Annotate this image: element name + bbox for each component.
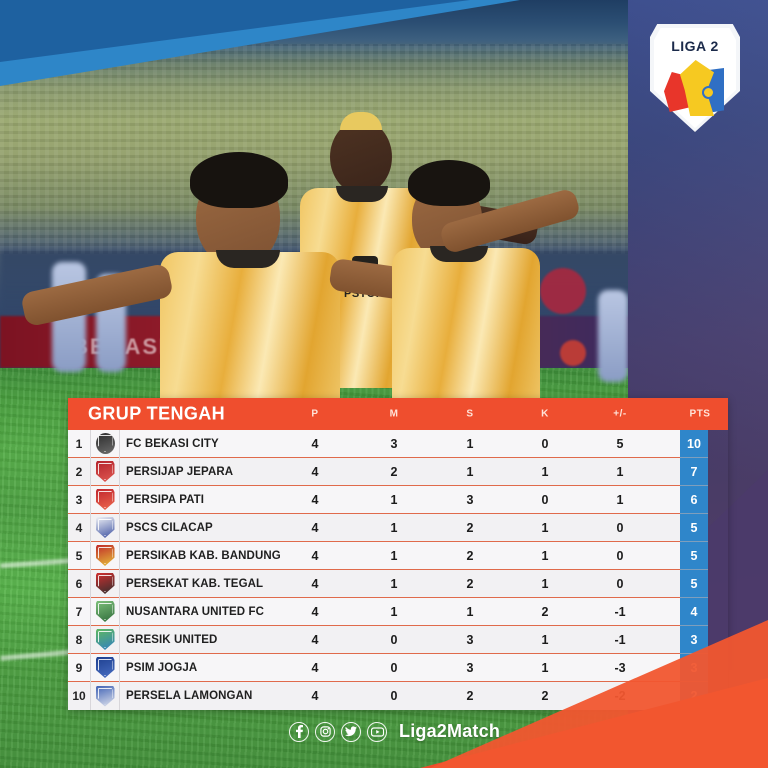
stat-drawn: 1 xyxy=(467,437,474,451)
table-body: 1FC BEKASI CITY431052PERSIJAP JEPARA4211… xyxy=(68,430,708,710)
club-crest-ring xyxy=(98,603,113,620)
jersey-collar xyxy=(336,186,388,202)
row-rank: 6 xyxy=(68,577,90,591)
row-rank: 7 xyxy=(68,605,90,619)
stat-lost: 2 xyxy=(542,689,549,703)
club-crest-shape xyxy=(96,601,115,622)
logo-football-icon xyxy=(702,86,715,99)
row-rank: 2 xyxy=(68,465,90,479)
club-crest-icon xyxy=(91,654,119,682)
row-rank: 5 xyxy=(68,549,90,563)
stat-won: 0 xyxy=(391,633,398,647)
club-crest-shape xyxy=(96,573,115,594)
team-name: PSIM JOGJA xyxy=(120,662,197,674)
player-head xyxy=(330,120,392,194)
stat-goal-difference: 5 xyxy=(617,437,624,451)
stat-played: 4 xyxy=(312,633,319,647)
stat-won: 1 xyxy=(391,493,398,507)
stat-played: 4 xyxy=(312,437,319,451)
liga-2-logo: LIGA 2 xyxy=(650,24,740,132)
stat-lost: 2 xyxy=(542,605,549,619)
club-crest-icon xyxy=(91,626,119,654)
standings-table: GRUP TENGAH P M S K +/- PTS 1FC BEKASI C… xyxy=(68,398,728,710)
stat-played: 4 xyxy=(312,689,319,703)
stat-won: 2 xyxy=(391,465,398,479)
club-crest-ring xyxy=(98,519,113,536)
club-crest-ring xyxy=(98,631,113,648)
stat-drawn: 2 xyxy=(467,549,474,563)
stat-drawn: 1 xyxy=(467,605,474,619)
stat-played: 4 xyxy=(312,465,319,479)
stat-points: 5 xyxy=(680,514,708,542)
table-row[interactable]: 9PSIM JOGJA4031-3 xyxy=(68,654,708,682)
background-player xyxy=(598,290,628,382)
club-crest-shape xyxy=(96,686,115,707)
stat-drawn: 2 xyxy=(467,577,474,591)
club-crest-icon xyxy=(91,682,119,710)
club-crest-icon xyxy=(91,430,119,458)
club-crest-ring xyxy=(98,547,113,564)
stat-won: 0 xyxy=(391,689,398,703)
row-rank: 10 xyxy=(68,689,90,703)
table-row[interactable]: 3PERSIPA PATI41301 xyxy=(68,486,708,514)
row-rank: 9 xyxy=(68,661,90,675)
brand-name: Liga2Match xyxy=(399,721,500,742)
table-row[interactable]: 8GRESIK UNITED4031-1 xyxy=(68,626,708,654)
liga-2-logo-text: LIGA 2 xyxy=(650,38,740,54)
club-crest-shape xyxy=(96,489,115,510)
team-name: PERSIJAP JEPARA xyxy=(120,466,233,478)
stat-won: 1 xyxy=(391,605,398,619)
club-crest-icon xyxy=(91,514,119,542)
team-name: PSCS CILACAP xyxy=(120,522,213,534)
team-name: FC BEKASI CITY xyxy=(120,438,219,450)
column-header-k: K xyxy=(541,409,549,420)
club-crest-icon xyxy=(91,570,119,598)
stat-played: 4 xyxy=(312,521,319,535)
stat-points: 7 xyxy=(680,458,708,486)
club-crest-icon xyxy=(91,598,119,626)
column-header-gd: +/- xyxy=(613,409,626,420)
column-header-pts: PTS xyxy=(690,409,711,420)
table-row[interactable]: 7NUSANTARA UNITED FC4112-1 xyxy=(68,598,708,626)
stat-drawn: 3 xyxy=(467,493,474,507)
club-crest-icon xyxy=(91,542,119,570)
stat-points: 5 xyxy=(680,570,708,598)
stat-goal-difference: 1 xyxy=(617,465,624,479)
group-title: GRUP TENGAH xyxy=(88,404,225,425)
club-crest-shape xyxy=(96,657,115,678)
ad-circle-icon xyxy=(560,340,586,366)
stat-won: 1 xyxy=(391,577,398,591)
footer-social-bar: Liga2Match xyxy=(289,721,500,742)
stat-goal-difference: -1 xyxy=(614,633,625,647)
stat-won: 3 xyxy=(391,437,398,451)
stat-goal-difference: -3 xyxy=(614,661,625,675)
stat-played: 4 xyxy=(312,661,319,675)
stat-goal-difference: 1 xyxy=(617,493,624,507)
poster-canvas: BEKASI CITY PSTORE PSTORE PSTORE xyxy=(0,0,768,768)
table-header: GRUP TENGAH P M S K +/- PTS xyxy=(68,398,728,430)
column-header-s: S xyxy=(466,409,473,420)
stat-lost: 0 xyxy=(542,493,549,507)
stat-points: 6 xyxy=(680,486,708,514)
club-crest-icon xyxy=(91,458,119,486)
ad-circle-icon xyxy=(540,268,586,314)
row-rank: 8 xyxy=(68,633,90,647)
club-crest-shape xyxy=(96,545,115,566)
team-name: NUSANTARA UNITED FC xyxy=(120,606,264,618)
stat-played: 4 xyxy=(312,493,319,507)
stat-played: 4 xyxy=(312,577,319,591)
club-crest-shape xyxy=(96,433,115,454)
club-crest-shape xyxy=(96,461,115,482)
stat-lost: 1 xyxy=(542,633,549,647)
jersey-collar xyxy=(216,250,280,268)
stat-won: 1 xyxy=(391,549,398,563)
club-crest-ring xyxy=(98,491,113,508)
stat-drawn: 3 xyxy=(467,633,474,647)
club-crest-shape xyxy=(96,629,115,650)
club-crest-ring xyxy=(98,659,113,676)
stat-lost: 1 xyxy=(542,577,549,591)
stat-lost: 1 xyxy=(542,521,549,535)
row-rank: 1 xyxy=(68,437,90,451)
stat-played: 4 xyxy=(312,549,319,563)
stat-lost: 0 xyxy=(542,437,549,451)
team-name: GRESIK UNITED xyxy=(120,634,217,646)
club-crest-ring xyxy=(98,463,113,480)
club-crest-icon xyxy=(91,486,119,514)
table-row[interactable]: 5PERSIKAB KAB. BANDUNG41210 xyxy=(68,542,708,570)
stat-drawn: 2 xyxy=(467,521,474,535)
club-crest-ring xyxy=(98,575,113,592)
stat-points: 5 xyxy=(680,542,708,570)
stat-lost: 1 xyxy=(542,549,549,563)
stat-goal-difference: -1 xyxy=(614,605,625,619)
table-row[interactable]: 1FC BEKASI CITY43105 xyxy=(68,430,708,458)
table-row[interactable]: 4PSCS CILACAP41210 xyxy=(68,514,708,542)
player-hair xyxy=(408,160,490,206)
stat-goal-difference: 0 xyxy=(617,577,624,591)
facebook-icon[interactable] xyxy=(289,722,309,742)
row-rank: 3 xyxy=(68,493,90,507)
instagram-icon[interactable] xyxy=(315,722,335,742)
stat-lost: 1 xyxy=(542,661,549,675)
club-crest-ring xyxy=(98,435,113,452)
club-crest-shape xyxy=(96,517,115,538)
youtube-icon[interactable] xyxy=(367,722,387,742)
stat-played: 4 xyxy=(312,605,319,619)
stat-drawn: 2 xyxy=(467,689,474,703)
twitter-icon[interactable] xyxy=(341,722,361,742)
stat-lost: 1 xyxy=(542,465,549,479)
team-name: PERSEKAT KAB. TEGAL xyxy=(120,578,263,590)
table-row[interactable]: 2PERSIJAP JEPARA42111 xyxy=(68,458,708,486)
player-hair xyxy=(190,152,288,208)
team-name: PERSIPA PATI xyxy=(120,494,204,506)
column-header-m: M xyxy=(390,409,399,420)
team-name: PERSIKAB KAB. BANDUNG xyxy=(120,550,281,562)
stat-points: 4 xyxy=(680,598,708,626)
stat-drawn: 3 xyxy=(467,661,474,675)
table-row[interactable]: 6PERSEKAT KAB. TEGAL41210 xyxy=(68,570,708,598)
stat-won: 0 xyxy=(391,661,398,675)
stat-drawn: 1 xyxy=(467,465,474,479)
row-rank: 4 xyxy=(68,521,90,535)
club-crest-ring xyxy=(98,688,113,705)
column-header-p: P xyxy=(311,409,318,420)
stat-goal-difference: 0 xyxy=(617,521,624,535)
stat-goal-difference: 0 xyxy=(617,549,624,563)
team-name: PERSELA LAMONGAN xyxy=(120,690,252,702)
stat-won: 1 xyxy=(391,521,398,535)
stat-points: 10 xyxy=(680,430,708,458)
